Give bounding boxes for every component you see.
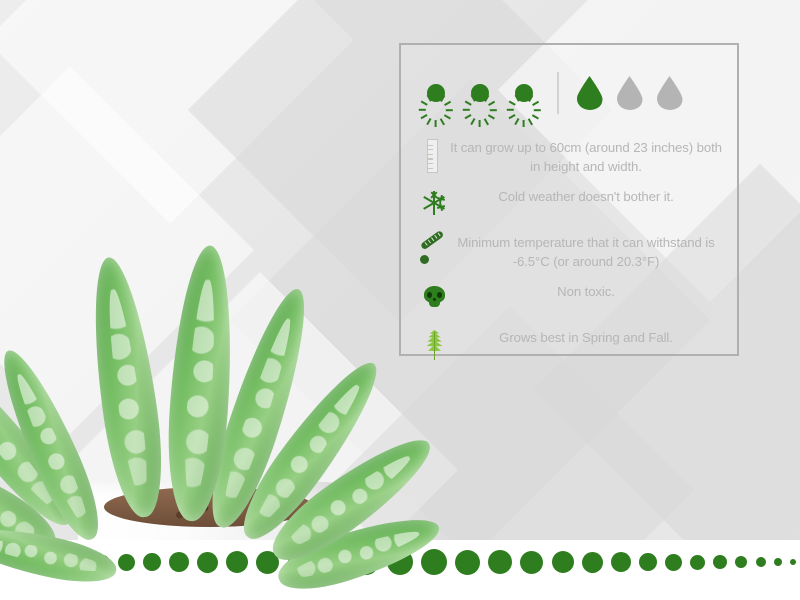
thermometer-icon bbox=[419, 234, 449, 268]
sun-ray bbox=[509, 101, 516, 106]
sun-ray bbox=[421, 101, 428, 106]
sun-ray bbox=[528, 118, 533, 125]
sun-ray bbox=[479, 120, 481, 127]
snowflake-icon bbox=[419, 188, 449, 222]
decorative-dot bbox=[197, 552, 218, 573]
decorative-dot bbox=[713, 555, 727, 569]
plant-facts-list: It can grow up to 60cm (around 23 inches… bbox=[401, 137, 737, 373]
water-drop-icon bbox=[657, 76, 683, 110]
plant-fact-text: Minimum temperature that it can withstan… bbox=[449, 232, 723, 271]
decorative-dot bbox=[665, 554, 682, 571]
water-drop-icon bbox=[617, 76, 643, 110]
plant-fact-row: Non toxic. bbox=[401, 281, 737, 317]
decorative-dot bbox=[455, 550, 480, 575]
sun-ray bbox=[444, 101, 451, 106]
decorative-dot bbox=[118, 554, 135, 571]
sun-ray bbox=[509, 114, 516, 119]
plant-fact-text: Grows best in Spring and Fall. bbox=[449, 327, 723, 347]
decorative-dot bbox=[226, 551, 248, 573]
sun-ray bbox=[479, 93, 481, 100]
sun-ray bbox=[523, 120, 525, 127]
plant-care-card: It can grow up to 60cm (around 23 inches… bbox=[399, 43, 739, 356]
decorative-dot bbox=[774, 558, 782, 566]
decorative-dot bbox=[690, 555, 705, 570]
plant-fact-text: Cold weather doesn't bother it. bbox=[449, 186, 723, 206]
plant-fact-row: Minimum temperature that it can withstan… bbox=[401, 232, 737, 271]
decorative-dot bbox=[756, 557, 766, 567]
sunlight-indicator bbox=[419, 76, 541, 110]
sun-ray bbox=[444, 114, 451, 119]
leaf-icon bbox=[419, 329, 449, 363]
decorative-dot bbox=[421, 549, 447, 575]
sun-ray bbox=[532, 101, 539, 106]
sun-ray bbox=[435, 93, 437, 100]
indicator-divider bbox=[557, 72, 559, 114]
aloe-vera-photo bbox=[0, 215, 400, 545]
sun-ray bbox=[488, 101, 495, 106]
sun-ray bbox=[515, 118, 520, 125]
decorative-dot bbox=[790, 559, 796, 565]
sun-icon bbox=[463, 76, 497, 110]
decorative-dot bbox=[611, 552, 631, 572]
decorative-dot bbox=[735, 556, 747, 568]
plant-fact-text: It can grow up to 60cm (around 23 inches… bbox=[449, 137, 723, 176]
sun-ray bbox=[532, 114, 539, 119]
sun-ray bbox=[421, 114, 428, 119]
sun-ray bbox=[488, 114, 495, 119]
sun-ray bbox=[435, 120, 437, 127]
sun-ray bbox=[534, 109, 541, 111]
sun-icon bbox=[507, 76, 541, 110]
plant-fact-row: Grows best in Spring and Fall. bbox=[401, 327, 737, 363]
decorative-dot bbox=[520, 551, 543, 574]
water-drop-icon bbox=[577, 76, 603, 110]
sun-ray bbox=[440, 118, 445, 125]
care-indicator-row bbox=[401, 61, 737, 125]
sun-ray bbox=[471, 118, 476, 125]
ruler-icon bbox=[419, 139, 449, 173]
sun-ray bbox=[523, 93, 525, 100]
plant-fact-row: Cold weather doesn't bother it. bbox=[401, 186, 737, 222]
sun-ray bbox=[484, 118, 489, 125]
aloe-leaf bbox=[82, 254, 172, 521]
sun-icon bbox=[419, 76, 453, 110]
decorative-dot bbox=[639, 553, 657, 571]
sun-ray bbox=[446, 109, 453, 111]
sun-ray bbox=[490, 109, 497, 111]
plant-infographic: It can grow up to 60cm (around 23 inches… bbox=[0, 0, 800, 600]
sun-ray bbox=[465, 114, 472, 119]
decorative-dot bbox=[488, 550, 512, 574]
sun-ray bbox=[507, 109, 514, 111]
sun-ray bbox=[419, 109, 426, 111]
sun-ray bbox=[427, 118, 432, 125]
decorative-dot bbox=[169, 552, 189, 572]
sun-ray bbox=[463, 109, 470, 111]
skull-icon bbox=[419, 283, 449, 317]
watering-indicator bbox=[577, 76, 683, 110]
sun-ray bbox=[465, 101, 472, 106]
decorative-dot bbox=[143, 553, 161, 571]
decorative-dot bbox=[552, 551, 574, 573]
plant-fact-row: It can grow up to 60cm (around 23 inches… bbox=[401, 137, 737, 176]
decorative-dot bbox=[582, 552, 603, 573]
plant-fact-text: Non toxic. bbox=[449, 281, 723, 301]
